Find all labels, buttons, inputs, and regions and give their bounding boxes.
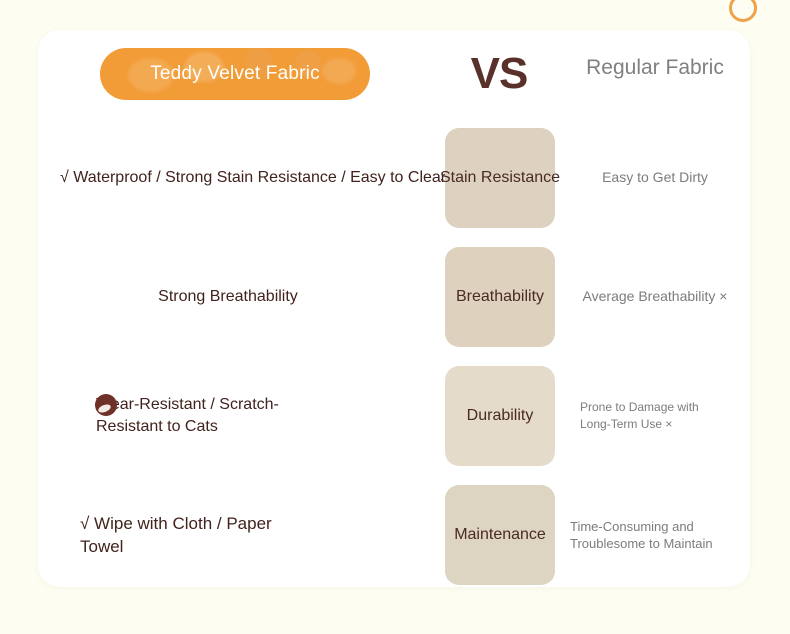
row-left-text: √ Wipe with Cloth / Paper Towel — [80, 512, 315, 558]
comparison-row: Wear-Resistant / Scratch-Resistant to Ca… — [38, 356, 750, 475]
vs-label: VS — [424, 44, 574, 104]
feature-badge-breathability: Breathability — [445, 247, 555, 347]
row-left-text: Strong Breathability — [158, 286, 298, 308]
feature-badge-durability: Durability — [445, 366, 555, 466]
regular-fabric-title: Regular Fabric — [560, 56, 750, 80]
row-left-cell: √ Wipe with Cloth / Paper Towel — [38, 475, 418, 587]
row-left-text: √ Waterproof / Strong Stain Resistance /… — [60, 167, 450, 189]
row-left-cell: √ Waterproof / Strong Stain Resistance /… — [38, 118, 418, 237]
row-left-cell: Strong Breathability — [38, 237, 418, 356]
comparison-row: √ Waterproof / Strong Stain Resistance /… — [38, 118, 750, 237]
badge-label: Stain Resistance — [440, 169, 560, 187]
row-right-text: Easy to Get Dirty — [602, 169, 708, 186]
comparison-row: Strong Breathability Breathability Avera… — [38, 237, 750, 356]
row-right-text: Time-Consuming and Troublesome to Mainta… — [570, 518, 740, 552]
comparison-row: √ Wipe with Cloth / Paper Towel Maintena… — [38, 475, 750, 587]
comparison-card: Teddy Velvet Fabric VS Regular Fabric √ … — [38, 30, 750, 587]
row-right-cell: Easy to Get Dirty — [560, 118, 750, 237]
row-right-text: Average Breathability × — [583, 288, 728, 305]
badge-label: Maintenance — [454, 526, 546, 544]
comparison-header: Teddy Velvet Fabric VS Regular Fabric — [38, 30, 750, 118]
badge-label: Durability — [467, 407, 534, 425]
row-right-cell: Time-Consuming and Troublesome to Mainta… — [560, 475, 750, 587]
row-left-cell: Wear-Resistant / Scratch-Resistant to Ca… — [38, 356, 418, 475]
comparison-rows: √ Waterproof / Strong Stain Resistance /… — [38, 118, 750, 587]
feature-badge-maintenance: Maintenance — [445, 485, 555, 585]
badge-label: Breathability — [456, 288, 544, 306]
teddy-velvet-fabric-pill[interactable]: Teddy Velvet Fabric — [100, 48, 370, 100]
paw-icon — [95, 394, 117, 416]
feature-badge-stain-resistance: Stain Resistance — [445, 128, 555, 228]
ring-decoration-icon — [729, 0, 757, 22]
pill-label: Teddy Velvet Fabric — [150, 63, 320, 85]
row-left-text: Wear-Resistant / Scratch-Resistant to Ca… — [96, 394, 326, 438]
row-right-text: Prone to Damage with Long-Term Use × — [580, 399, 730, 433]
row-right-cell: Prone to Damage with Long-Term Use × — [560, 356, 750, 475]
row-right-cell: Average Breathability × — [560, 237, 750, 356]
